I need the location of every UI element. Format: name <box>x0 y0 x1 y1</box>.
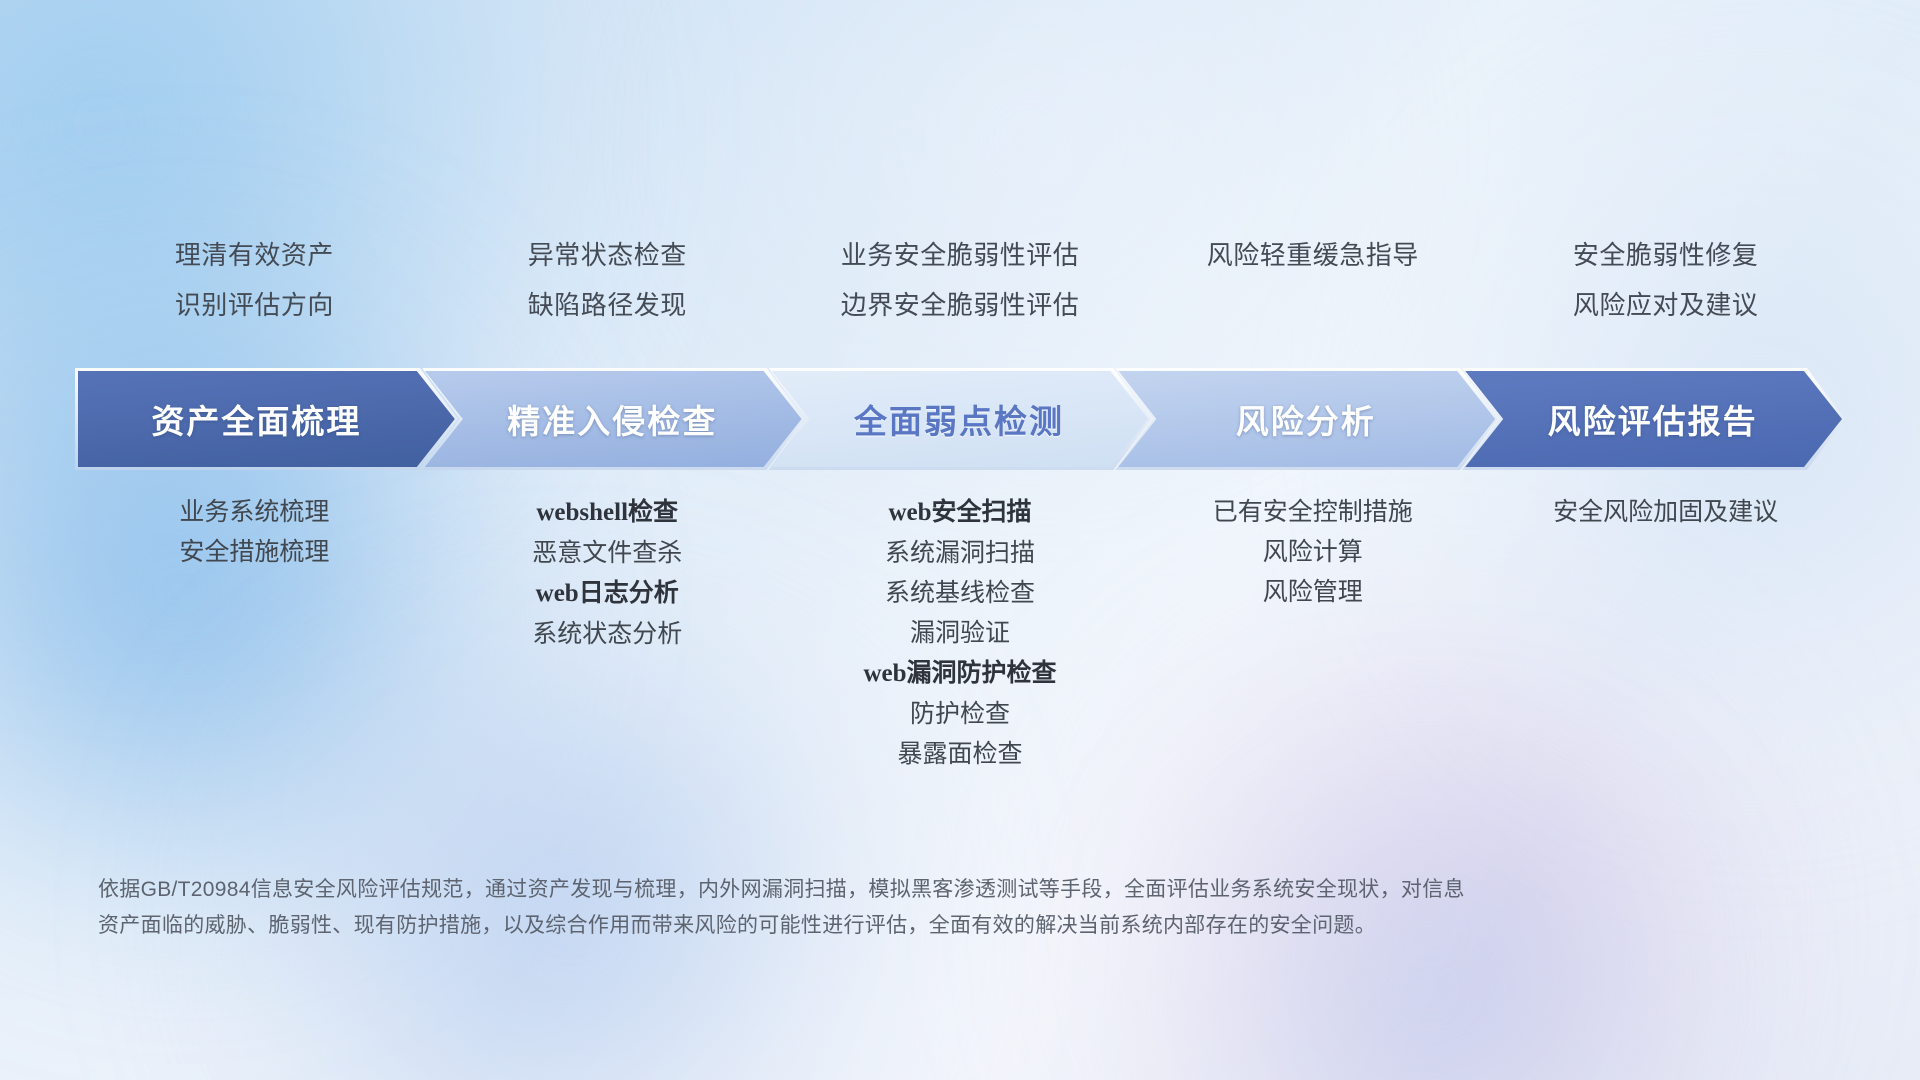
stage-chevron-intrusion-check[interactable]: 精准入侵检查 <box>425 371 802 467</box>
top-label-item: 识别评估方向 <box>78 280 431 330</box>
latin-token: web <box>536 580 579 607</box>
bottom-label-item: web漏洞防护检查 <box>784 653 1137 694</box>
top-label-item: 安全脆弱性修复 <box>1489 230 1842 280</box>
bottom-label-item: 安全措施梳理 <box>78 532 431 572</box>
top-label-item: 理清有效资产 <box>78 230 431 280</box>
footer-line-1: 依据GB/T20984信息安全风险评估规范，通过资产发现与梳理，内外网漏洞扫描，… <box>98 872 1618 908</box>
top-label-item: 边界安全脆弱性评估 <box>784 280 1137 330</box>
top-labels-intrusion-check: 异常状态检查缺陷路径发现 <box>431 230 784 330</box>
stage-chevron-band: 资产全面梳理精准入侵检查全面弱点检测风险分析风险评估报告 <box>78 371 1842 467</box>
bottom-label-item: 漏洞验证 <box>784 613 1137 653</box>
bottom-label-item: 风险管理 <box>1136 572 1489 612</box>
bottom-label-item: webshell检查 <box>431 492 784 533</box>
bottom-label-item: 已有安全控制措施 <box>1136 492 1489 532</box>
bottom-labels-assessment-report: 安全风险加固及建议 <box>1489 492 1842 774</box>
cjk-token: 检查 <box>628 498 678 526</box>
bottom-label-item: 系统漏洞扫描 <box>784 533 1137 573</box>
bottom-label-item: 业务系统梳理 <box>78 492 431 532</box>
process-diagram: 理清有效资产识别评估方向异常状态检查缺陷路径发现业务安全脆弱性评估边界安全脆弱性… <box>0 0 1920 1080</box>
bottom-label-item: 风险计算 <box>1136 532 1489 572</box>
stage-chevron-asset-inventory[interactable]: 资产全面梳理 <box>78 371 455 467</box>
bottom-label-item: web安全扫描 <box>784 492 1137 533</box>
bottom-labels-intrusion-check: webshell检查恶意文件查杀web日志分析系统状态分析 <box>431 492 784 774</box>
top-labels-asset-inventory: 理清有效资产识别评估方向 <box>78 230 431 330</box>
chevron-label: 风险评估报告 <box>1530 395 1778 443</box>
latin-token: webshell <box>536 499 628 526</box>
top-labels-risk-analysis: 风险轻重缓急指导 <box>1136 230 1489 330</box>
top-label-item: 风险轻重缓急指导 <box>1136 230 1489 280</box>
bottom-labels-asset-inventory: 业务系统梳理安全措施梳理 <box>78 492 431 774</box>
footer-description: 依据GB/T20984信息安全风险评估规范，通过资产发现与梳理，内外网漏洞扫描，… <box>98 872 1618 944</box>
top-label-item: 缺陷路径发现 <box>431 280 784 330</box>
top-label-row: 理清有效资产识别评估方向异常状态检查缺陷路径发现业务安全脆弱性评估边界安全脆弱性… <box>78 230 1842 330</box>
top-label-item: 风险应对及建议 <box>1489 280 1842 330</box>
bottom-label-item: 系统基线检查 <box>784 573 1137 613</box>
top-label-item: 异常状态检查 <box>431 230 784 280</box>
stage-chevron-risk-analysis[interactable]: 风险分析 <box>1118 371 1495 467</box>
chevron-label: 资产全面梳理 <box>151 395 381 443</box>
bottom-label-item: 恶意文件查杀 <box>431 533 784 573</box>
chevron-label: 风险分析 <box>1218 395 1396 443</box>
bottom-label-row: 业务系统梳理安全措施梳理webshell检查恶意文件查杀web日志分析系统状态分… <box>78 492 1842 774</box>
chevron-label: 精准入侵检查 <box>489 395 737 443</box>
cjk-token: 漏洞防护检查 <box>907 659 1057 687</box>
stage-chevron-weakness-detection[interactable]: 全面弱点检测 <box>772 371 1149 467</box>
top-label-item: 业务安全脆弱性评估 <box>784 230 1137 280</box>
bottom-label-item: 安全风险加固及建议 <box>1489 492 1842 532</box>
bottom-label-item: web日志分析 <box>431 573 784 614</box>
cjk-token: 安全扫描 <box>932 498 1032 526</box>
bottom-labels-weakness-detection: web安全扫描系统漏洞扫描系统基线检查漏洞验证web漏洞防护检查防护检查暴露面检… <box>784 492 1137 774</box>
chevron-label: 全面弱点检测 <box>836 395 1084 443</box>
top-labels-assessment-report: 安全脆弱性修复风险应对及建议 <box>1489 230 1842 330</box>
bottom-labels-risk-analysis: 已有安全控制措施风险计算风险管理 <box>1136 492 1489 774</box>
stage-chevron-assessment-report[interactable]: 风险评估报告 <box>1465 371 1842 467</box>
latin-token: web <box>888 499 931 526</box>
cjk-token: 日志分析 <box>579 579 679 607</box>
bottom-label-item: 防护检查 <box>784 694 1137 734</box>
bottom-label-item: 暴露面检查 <box>784 734 1137 774</box>
footer-line-2: 资产面临的威胁、脆弱性、现有防护措施，以及综合作用而带来风险的可能性进行评估，全… <box>98 908 1618 944</box>
latin-token: web <box>863 660 906 687</box>
bottom-label-item: 系统状态分析 <box>431 614 784 654</box>
top-labels-weakness-detection: 业务安全脆弱性评估边界安全脆弱性评估 <box>784 230 1137 330</box>
